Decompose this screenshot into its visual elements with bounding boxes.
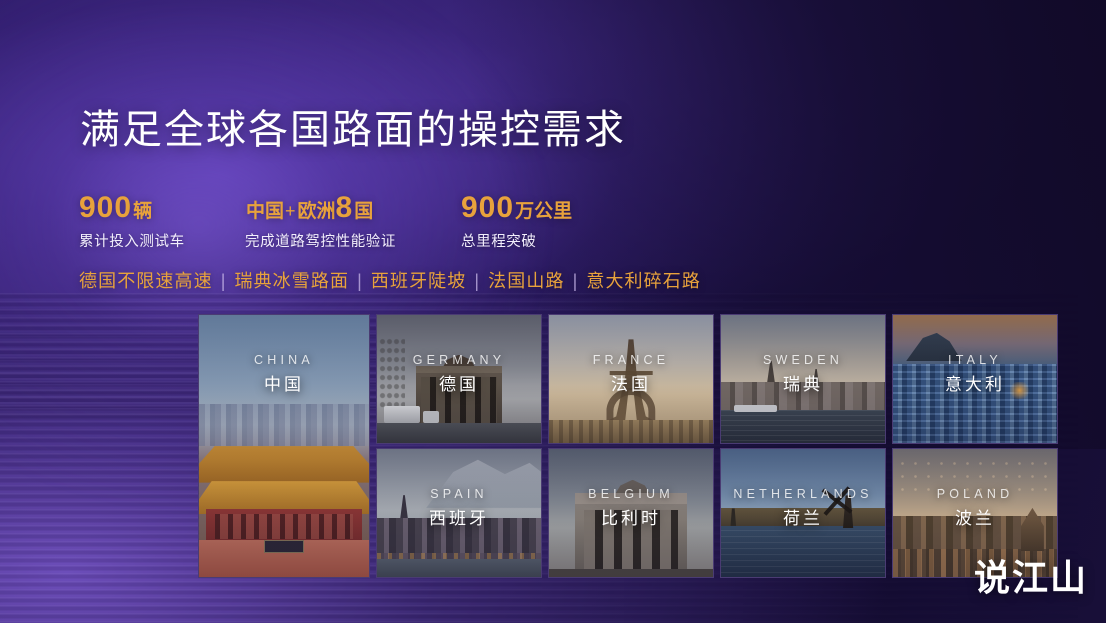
stat-label: 累计投入测试车: [79, 233, 245, 251]
country-card-france[interactable]: FRANCE 法国: [548, 314, 714, 444]
photo-scrim: [549, 449, 713, 577]
stats-row: 900辆 累计投入测试车 中国+欧洲8国 完成道路驾控性能验证 900万公里 总…: [79, 193, 572, 251]
stat-item-mileage: 900万公里 总里程突破: [461, 193, 572, 251]
photo-scrim: [721, 315, 885, 443]
photo-scrim: [377, 449, 541, 577]
stat-prefix: 中国: [246, 201, 284, 222]
stat-value: 中国+欧洲8国: [245, 193, 461, 227]
page-title: 满足全球各国路面的操控需求: [80, 97, 626, 155]
country-photo-grid: CHINA 中国 GERMANY 德国 FRANCE: [198, 314, 1080, 578]
stat-value: 900万公里: [461, 193, 572, 227]
stat-label: 总里程突破: [461, 233, 572, 251]
stat-number: 8: [336, 191, 354, 224]
stat-value: 900辆: [79, 193, 245, 227]
country-card-belgium[interactable]: BELGIUM 比利时: [548, 448, 714, 578]
country-card-netherlands[interactable]: NETHERLANDS 荷兰: [720, 448, 886, 578]
country-card-china[interactable]: CHINA 中国: [198, 314, 370, 578]
country-card-sweden[interactable]: SWEDEN 瑞典: [720, 314, 886, 444]
stat-unit: 辆: [133, 201, 152, 222]
country-card-italy[interactable]: ITALY 意大利: [892, 314, 1058, 444]
road-type-item: 西班牙陡坡: [371, 271, 467, 291]
list-separator: |: [573, 271, 579, 291]
stat-unit: 国: [354, 201, 373, 222]
list-separator: |: [474, 271, 480, 291]
photo-scrim: [893, 315, 1057, 443]
country-card-germany[interactable]: GERMANY 德国: [376, 314, 542, 444]
stat-item-countries: 中国+欧洲8国 完成道路驾控性能验证: [245, 193, 461, 251]
watermark: 说江山: [974, 549, 1088, 601]
road-type-item: 瑞典冰雪路面: [234, 271, 349, 291]
road-type-item: 德国不限速高速: [79, 271, 213, 291]
list-separator: |: [357, 271, 363, 291]
photo-scrim: [549, 315, 713, 443]
stat-mid: 欧洲: [298, 201, 336, 222]
photo-scrim: [199, 315, 369, 577]
road-type-item: 意大利碎石路: [586, 271, 701, 291]
road-type-item: 法国山路: [488, 271, 564, 291]
stat-label: 完成道路驾控性能验证: [245, 233, 461, 251]
photo-scrim: [377, 315, 541, 443]
stat-unit: 万公里: [515, 201, 572, 222]
list-separator: |: [221, 271, 227, 291]
road-type-list: 德国不限速高速|瑞典冰雪路面|西班牙陡坡|法国山路|意大利碎石路: [79, 268, 701, 294]
stat-number: 900: [461, 191, 514, 224]
photo-scrim: [721, 449, 885, 577]
stat-plus: +: [285, 201, 296, 221]
slide-canvas: 满足全球各国路面的操控需求 900辆 累计投入测试车 中国+欧洲8国 完成道路驾…: [0, 0, 1106, 623]
country-card-spain[interactable]: SPAIN 西班牙: [376, 448, 542, 578]
stat-item-test-vehicles: 900辆 累计投入测试车: [79, 193, 245, 251]
stat-number: 900: [79, 191, 132, 224]
